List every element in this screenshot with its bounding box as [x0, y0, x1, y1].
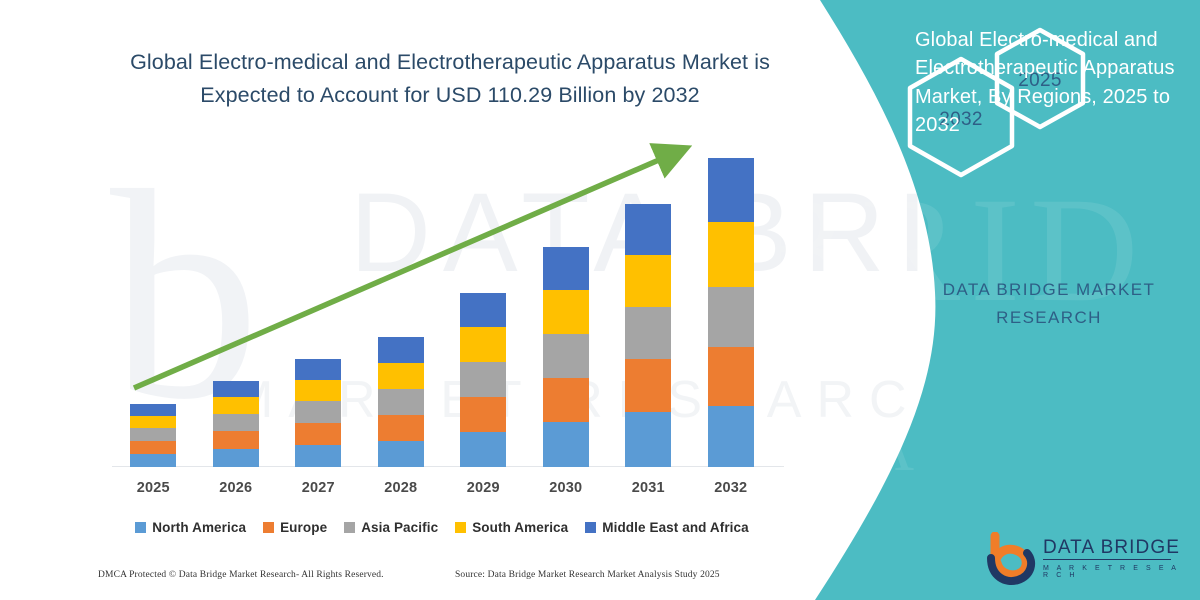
bar-segment[interactable]	[378, 441, 424, 467]
logo-divider	[1043, 559, 1171, 560]
logo-text: DATA BRIDGE M A R K E T R E S E A R C H	[1043, 538, 1190, 579]
bar-2025[interactable]	[130, 404, 176, 467]
bar-segment[interactable]	[625, 255, 671, 307]
legend-swatch-icon	[455, 522, 466, 533]
panel-brand-line-2: RESEARCH	[915, 304, 1183, 332]
bar-segment[interactable]	[213, 414, 259, 431]
infographic-canvas: b DATA BRIDGE MARKET RESEARCH Global Ele…	[0, 0, 1200, 600]
legend-item-middle-east-and-africa[interactable]: Middle East and Africa	[585, 520, 748, 535]
bar-segment[interactable]	[460, 327, 506, 362]
bar-segment[interactable]	[460, 432, 506, 467]
bar-segment[interactable]	[378, 389, 424, 415]
bar-2026[interactable]	[213, 381, 259, 467]
legend-item-north-america[interactable]: North America	[135, 520, 246, 535]
bar-segment[interactable]	[708, 347, 754, 406]
bar-segment[interactable]	[213, 449, 259, 467]
svg-text:REA: REA	[780, 412, 930, 485]
panel-brand-line-1: DATA BRIDGE MARKET	[915, 276, 1183, 304]
footer: DMCA Protected © Data Bridge Market Rese…	[0, 570, 800, 592]
legend-label: South America	[472, 520, 568, 535]
x-label-2028: 2028	[371, 480, 431, 496]
bar-segment[interactable]	[460, 397, 506, 432]
bar-segment[interactable]	[130, 441, 176, 454]
legend-item-europe[interactable]: Europe	[263, 520, 327, 535]
panel-brand: DATA BRIDGE MARKET RESEARCH	[915, 276, 1183, 332]
bar-2032[interactable]	[708, 158, 754, 467]
bar-segment[interactable]	[543, 290, 589, 334]
bar-segment[interactable]	[295, 380, 341, 401]
legend-label: North America	[152, 520, 246, 535]
bar-2031[interactable]	[625, 204, 671, 467]
chart-legend: North AmericaEuropeAsia PacificSouth Ame…	[112, 516, 772, 538]
bar-segment[interactable]	[295, 401, 341, 423]
bar-segment[interactable]	[130, 454, 176, 467]
bars-container	[112, 140, 772, 467]
legend-swatch-icon	[135, 522, 146, 533]
logo-title: DATA BRIDGE	[1043, 538, 1190, 557]
bar-segment[interactable]	[213, 381, 259, 397]
bar-segment[interactable]	[213, 431, 259, 449]
bar-segment[interactable]	[213, 397, 259, 414]
company-logo: DATA BRIDGE M A R K E T R E S E A R C H	[985, 532, 1190, 588]
legend-swatch-icon	[344, 522, 355, 533]
bar-segment[interactable]	[295, 359, 341, 380]
bar-segment[interactable]	[378, 415, 424, 441]
bar-segment[interactable]	[378, 363, 424, 389]
bar-segment[interactable]	[708, 287, 754, 347]
legend-label: Europe	[280, 520, 327, 535]
x-label-2031: 2031	[618, 480, 678, 496]
bar-segment[interactable]	[130, 428, 176, 441]
bar-segment[interactable]	[460, 362, 506, 397]
legend-label: Middle East and Africa	[602, 520, 748, 535]
legend-item-asia-pacific[interactable]: Asia Pacific	[344, 520, 438, 535]
x-label-2026: 2026	[206, 480, 266, 496]
bar-segment[interactable]	[625, 412, 671, 467]
panel-heading: Global Electro-medical and Electrotherap…	[915, 26, 1185, 140]
bar-segment[interactable]	[625, 359, 671, 412]
x-label-2029: 2029	[453, 480, 513, 496]
bar-segment[interactable]	[130, 416, 176, 428]
legend-label: Asia Pacific	[361, 520, 438, 535]
bar-2028[interactable]	[378, 337, 424, 467]
bar-segment[interactable]	[295, 445, 341, 467]
x-label-2027: 2027	[288, 480, 348, 496]
bar-segment[interactable]	[625, 204, 671, 255]
footer-source: Source: Data Bridge Market Research Mark…	[455, 570, 720, 580]
x-label-2025: 2025	[123, 480, 183, 496]
logo-subtitle: M A R K E T R E S E A R C H	[1043, 565, 1190, 579]
bar-segment[interactable]	[130, 404, 176, 416]
logo-mark-icon	[985, 532, 1043, 586]
x-label-2032: 2032	[701, 480, 761, 496]
bar-2029[interactable]	[460, 293, 506, 467]
bar-segment[interactable]	[708, 406, 754, 467]
bar-segment[interactable]	[625, 307, 671, 359]
x-label-2030: 2030	[536, 480, 596, 496]
legend-swatch-icon	[263, 522, 274, 533]
bar-segment[interactable]	[543, 334, 589, 378]
x-axis-labels: 20252026202720282029203020312032	[112, 480, 772, 502]
bar-segment[interactable]	[378, 337, 424, 363]
bar-segment[interactable]	[708, 158, 754, 222]
chart: 20252026202720282029203020312032	[0, 0, 800, 600]
bar-segment[interactable]	[543, 378, 589, 422]
footer-copyright: DMCA Protected © Data Bridge Market Rese…	[98, 570, 384, 580]
bar-2030[interactable]	[543, 247, 589, 467]
bar-2027[interactable]	[295, 359, 341, 467]
bar-segment[interactable]	[543, 247, 589, 290]
legend-item-south-america[interactable]: South America	[455, 520, 568, 535]
bar-segment[interactable]	[460, 293, 506, 327]
legend-swatch-icon	[585, 522, 596, 533]
bar-segment[interactable]	[708, 222, 754, 287]
bar-segment[interactable]	[543, 422, 589, 467]
bar-segment[interactable]	[295, 423, 341, 445]
